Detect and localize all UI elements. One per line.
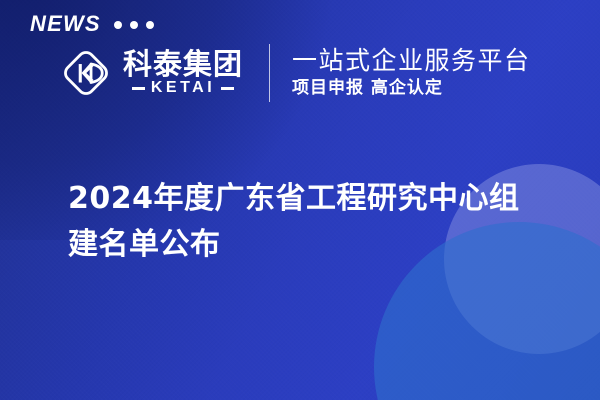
- page-title: 2024年度广东省工程研究中心组建名单公布: [68, 176, 538, 267]
- news-label: NEWS: [30, 13, 101, 35]
- tagline-sub: 项目申报 高企认定: [292, 78, 531, 99]
- brand-name-english: KETAI: [151, 80, 215, 96]
- dot-icon: [114, 21, 122, 29]
- logo-lockup: 科泰集团 KETAI 一站式企业服务平台 项目申报 高企认定: [58, 44, 531, 102]
- news-eyebrow: NEWS: [30, 13, 154, 35]
- rule-left-icon: [132, 87, 145, 90]
- news-banner: NEWS 科泰集团 KETAI: [0, 0, 600, 400]
- dot-icon: [146, 21, 154, 29]
- tagline-block: 一站式企业服务平台 项目申报 高企认定: [292, 47, 531, 99]
- vertical-divider: [269, 44, 270, 102]
- brand-name-english-row: KETAI: [132, 80, 234, 96]
- brand-name-chinese: 科泰集团: [123, 50, 243, 80]
- ketai-diamond-kd-logo-icon: [58, 45, 114, 101]
- news-dots-icon: [114, 21, 154, 29]
- dot-icon: [130, 21, 138, 29]
- rule-right-icon: [221, 87, 234, 90]
- logo-wordmark: 科泰集团 KETAI: [123, 50, 243, 97]
- tagline-main: 一站式企业服务平台: [292, 47, 531, 75]
